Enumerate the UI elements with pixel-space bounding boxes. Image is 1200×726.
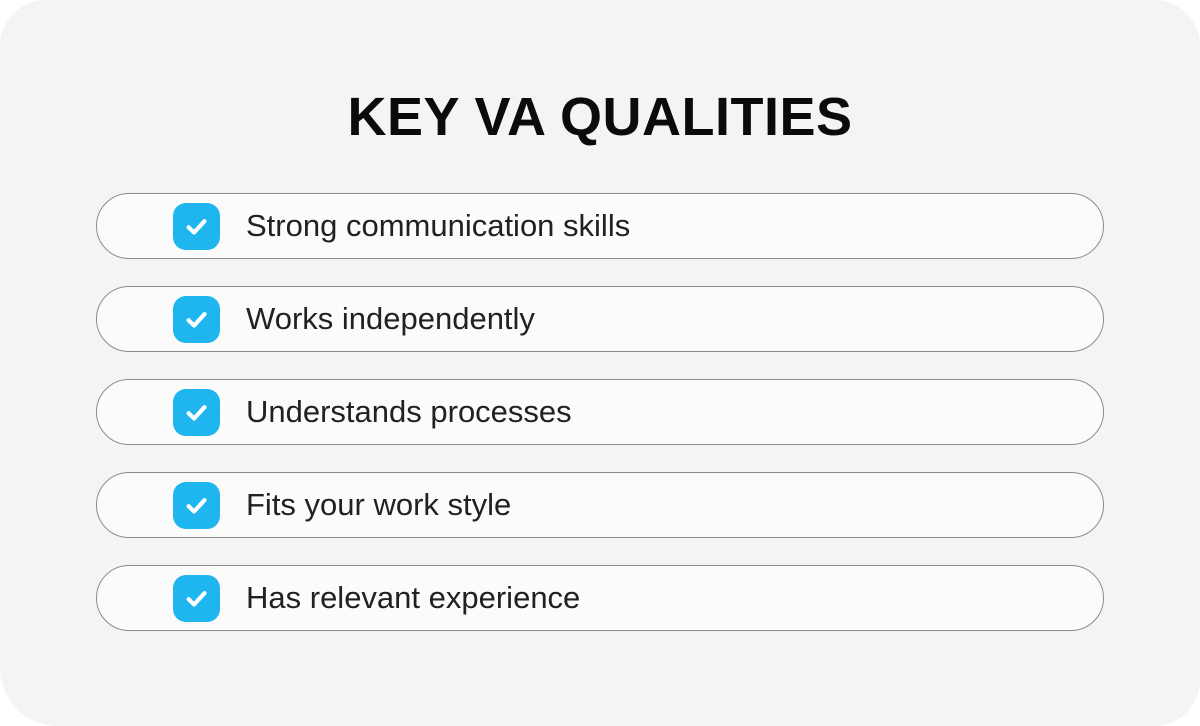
- list-item-label: Works independently: [246, 301, 535, 337]
- list-item-label: Strong communication skills: [246, 208, 630, 244]
- check-icon: [182, 584, 211, 613]
- list-item-label: Has relevant experience: [246, 580, 580, 616]
- list-item[interactable]: Fits your work style: [96, 472, 1104, 538]
- card-content: KEY VA QUALITIES Strong communication sk…: [0, 0, 1200, 726]
- check-icon: [182, 212, 211, 241]
- checkbox-checked[interactable]: [173, 575, 220, 622]
- page-title: KEY VA QUALITIES: [0, 86, 1200, 148]
- list-item[interactable]: Works independently: [96, 286, 1104, 352]
- qualities-card: KEY VA QUALITIES Strong communication sk…: [0, 0, 1200, 726]
- list-item[interactable]: Strong communication skills: [96, 193, 1104, 259]
- list-item[interactable]: Has relevant experience: [96, 565, 1104, 631]
- check-icon: [182, 305, 211, 334]
- list-item[interactable]: Understands processes: [96, 379, 1104, 445]
- list-item-label: Understands processes: [246, 394, 572, 430]
- checklist: Strong communication skills Works indepe…: [96, 193, 1104, 631]
- check-icon: [182, 398, 211, 427]
- checkbox-checked[interactable]: [173, 203, 220, 250]
- check-icon: [182, 491, 211, 520]
- list-item-label: Fits your work style: [246, 487, 511, 523]
- checkbox-checked[interactable]: [173, 482, 220, 529]
- checkbox-checked[interactable]: [173, 296, 220, 343]
- checkbox-checked[interactable]: [173, 389, 220, 436]
